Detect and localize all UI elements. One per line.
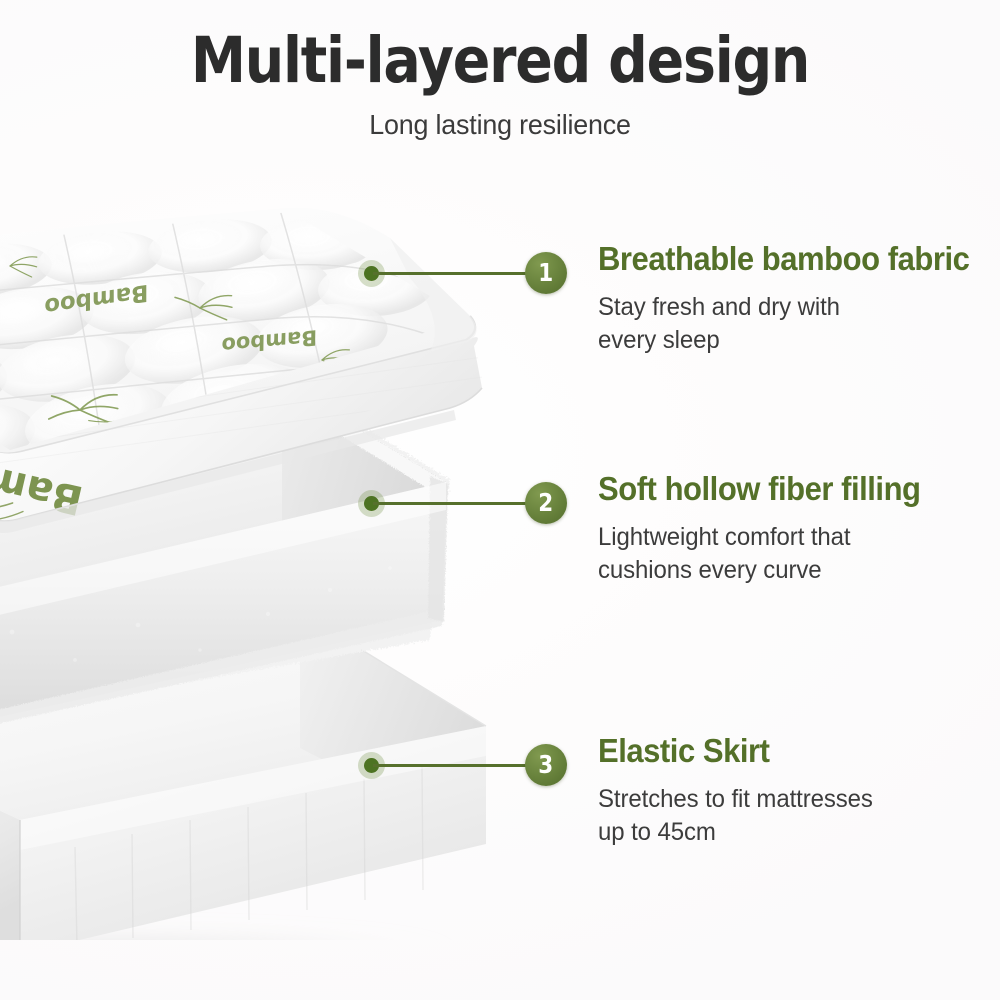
product-image: Bamboo Bamboo Bamboo bbox=[0, 120, 590, 940]
connector-line bbox=[373, 502, 547, 505]
page-title: Multi-layered design bbox=[60, 28, 940, 95]
callout-heading: Elastic Skirt bbox=[598, 732, 993, 771]
header: Multi-layered design Long lasting resili… bbox=[0, 28, 1000, 141]
step-number: 3 bbox=[539, 752, 554, 777]
callout-heading: Soft hollow fiber filling bbox=[598, 470, 993, 509]
callout-body-line: Stay fresh and dry with bbox=[598, 293, 840, 321]
page-subtitle: Long lasting resilience bbox=[20, 109, 980, 141]
step-number: 2 bbox=[539, 490, 554, 515]
callout-heading: Breathable bamboo fabric bbox=[598, 240, 993, 279]
step-badge-2: 2 bbox=[525, 482, 567, 524]
step-badge-1: 1 bbox=[525, 252, 567, 294]
callout-body: Stay fresh and dry with every sleep bbox=[598, 291, 1000, 358]
leader-line-2: 2 bbox=[355, 482, 570, 524]
leader-line-3: 3 bbox=[355, 744, 570, 786]
callout-text-1: Breathable bamboo fabric Stay fresh and … bbox=[598, 240, 1000, 358]
product-infographic: Multi-layered design Long lasting resili… bbox=[0, 0, 1000, 1000]
step-badge-3: 3 bbox=[525, 744, 567, 786]
callout-body-line: Lightweight comfort that bbox=[598, 523, 851, 551]
callout-body: Lightweight comfort that cushions every … bbox=[598, 521, 1000, 588]
callout-text-3: Elastic Skirt Stretches to fit mattresse… bbox=[598, 732, 1000, 850]
callout-body-line: every sleep bbox=[598, 326, 720, 354]
callout-text-2: Soft hollow fiber filling Lightweight co… bbox=[598, 470, 1000, 588]
callout-body-line: up to 45cm bbox=[598, 818, 716, 846]
connector-line bbox=[373, 764, 547, 767]
callout-body: Stretches to fit mattresses up to 45cm bbox=[598, 783, 1000, 850]
leader-line-1: 1 bbox=[355, 252, 570, 294]
callout-body-line: cushions every curve bbox=[598, 556, 822, 584]
step-number: 1 bbox=[539, 260, 554, 285]
callout-body-line: Stretches to fit mattresses bbox=[598, 785, 873, 813]
connector-line bbox=[373, 272, 547, 275]
